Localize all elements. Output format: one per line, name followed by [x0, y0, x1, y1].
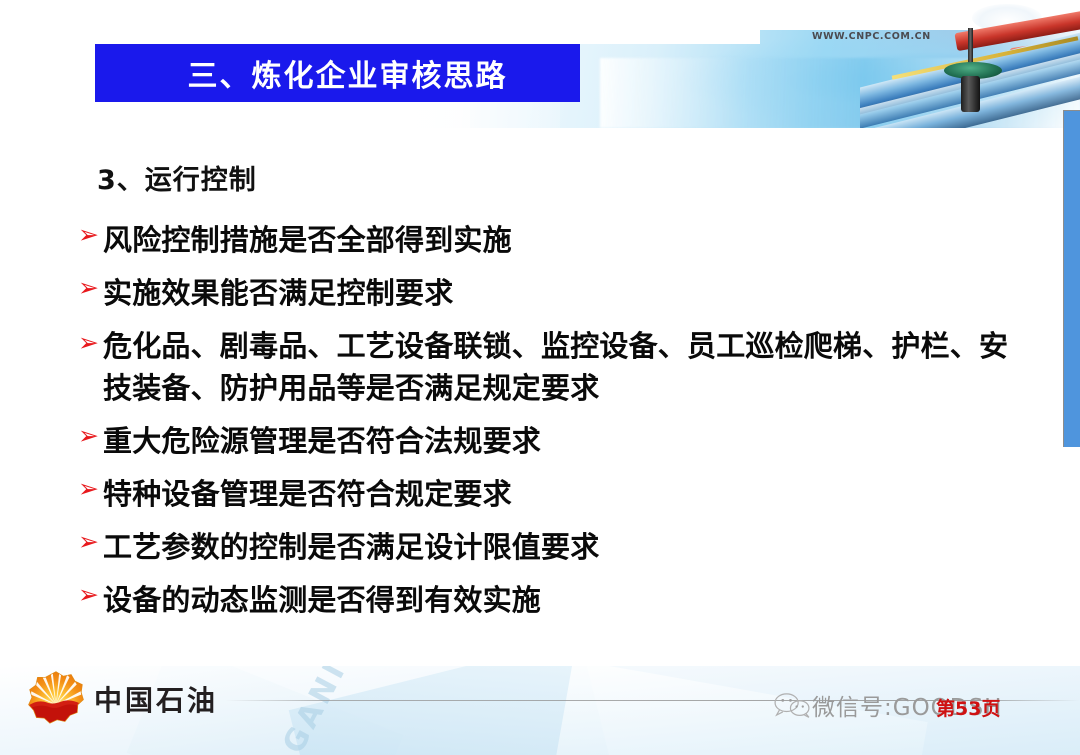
valve-body-shape	[961, 76, 980, 112]
list-item-text: 特种设备管理是否符合规定要求	[103, 474, 512, 515]
arrow-bullet-icon: ➢	[78, 582, 103, 608]
list-item-text: 危化品、剧毒品、工艺设备联锁、监控设备、员工巡检爬梯、护栏、安技装备、防护用品等…	[103, 326, 1028, 408]
right-edge-blue-strip[interactable]	[1063, 110, 1080, 447]
arrow-bullet-icon: ➢	[78, 529, 103, 555]
presentation-slide: WWW.CNPC.COM.CN 三、炼化企业审核思路 3、运行控制 ➢ 风险控制…	[0, 0, 1080, 755]
list-item: ➢ 设备的动态监测是否得到有效实施	[78, 580, 1028, 621]
arrow-bullet-icon: ➢	[78, 222, 103, 248]
slide-title-banner: 三、炼化企业审核思路	[95, 44, 580, 102]
list-item-text: 重大危险源管理是否符合法规要求	[103, 421, 541, 462]
list-item-text: 风险控制措施是否全部得到实施	[103, 220, 512, 261]
list-item-text: 实施效果能否满足控制要求	[103, 273, 453, 314]
list-item: ➢ 工艺参数的控制是否满足设计限值要求	[78, 527, 1028, 568]
cnpc-website-url: WWW.CNPC.COM.CN	[812, 31, 931, 42]
wechat-icon	[772, 691, 812, 719]
slide-title-text: 三、炼化企业审核思路	[160, 51, 516, 95]
list-item: ➢ 重大危险源管理是否符合法规要求	[78, 421, 1028, 462]
list-item: ➢ 危化品、剧毒品、工艺设备联锁、监控设备、员工巡检爬梯、护栏、安技装备、防护用…	[78, 326, 1028, 408]
list-item-text: 工艺参数的控制是否满足设计限值要求	[103, 527, 599, 568]
cnpc-logo	[28, 670, 84, 726]
cnpc-logo-icon	[28, 670, 84, 726]
list-item-text: 设备的动态监测是否得到有效实施	[103, 580, 541, 621]
list-item: ➢ 风险控制措施是否全部得到实施	[78, 220, 1028, 261]
arrow-bullet-icon: ➢	[78, 423, 103, 449]
refinery-pipeline-artwork	[860, 0, 1080, 128]
wechat-label: 微信号:	[812, 695, 893, 721]
arrow-bullet-icon: ➢	[78, 476, 103, 502]
bullet-list: ➢ 风险控制措施是否全部得到实施 ➢ 实施效果能否满足控制要求 ➢ 危化品、剧毒…	[78, 220, 1028, 633]
arrow-bullet-icon: ➢	[78, 330, 103, 356]
page-number: 第53页	[936, 694, 1000, 721]
brand-name-text: 中国石油	[94, 679, 218, 719]
arrow-bullet-icon: ➢	[78, 275, 103, 301]
section-subtitle: 3、运行控制	[97, 158, 257, 197]
list-item: ➢ 实施效果能否满足控制要求	[78, 273, 1028, 314]
list-item: ➢ 特种设备管理是否符合规定要求	[78, 474, 1028, 515]
